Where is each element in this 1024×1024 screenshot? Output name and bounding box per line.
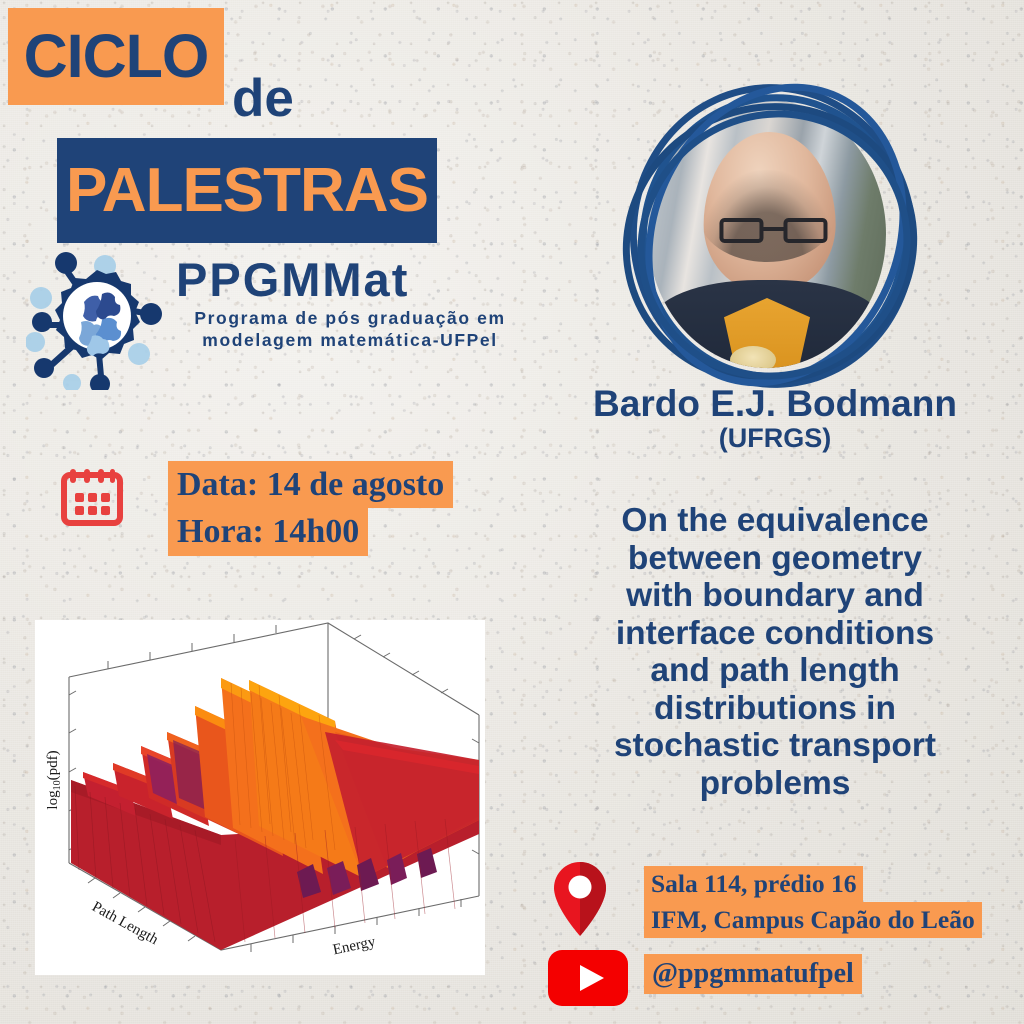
talk-title-line: On the equivalence <box>556 502 994 540</box>
schedule-time: Hora: 14h00 <box>168 508 368 555</box>
location-block: Sala 114, prédio 16 IFM, Campus Capão do… <box>644 866 982 938</box>
talk-title-line: interface conditions <box>556 615 994 653</box>
palestras-title-box: PALESTRAS <box>57 138 437 243</box>
poster-canvas: CICLO de PALESTRAS <box>0 0 1024 1024</box>
talk-title-line: with boundary and <box>556 577 994 615</box>
youtube-handle[interactable]: @ppgmmatufpel <box>644 954 862 994</box>
scribble-ring-5 <box>585 58 963 433</box>
calendar-icon <box>60 463 124 527</box>
location-line-2: IFM, Campus Capão do Leão <box>644 902 982 938</box>
location-line-1: Sala 114, prédio 16 <box>644 866 863 902</box>
ciclo-title-text: CICLO <box>24 26 209 87</box>
ppgmmat-logo: PPGMMat Programa de pós graduação em mod… <box>26 250 536 390</box>
talk-title-line: and path length <box>556 652 994 690</box>
schedule-date: Data: 14 de agosto <box>168 461 453 508</box>
gear-puzzle-logo-icon <box>26 250 168 390</box>
speaker-portrait <box>610 78 922 390</box>
palestras-title-text: PALESTRAS <box>66 160 428 222</box>
youtube-icon[interactable] <box>548 950 628 1006</box>
logo-subtitle-line2: modelagem matemática-UFPel <box>176 329 524 351</box>
speaker-name: Bardo E.J. Bodmann <box>540 384 1010 423</box>
surface-plot-panel: log10(pdf) Path Length Energy <box>35 620 485 975</box>
map-pin-icon <box>554 862 606 936</box>
logo-subtitle-line1: Programa de pós graduação em <box>176 307 524 329</box>
talk-title-line: problems <box>556 765 994 803</box>
speaker-affiliation: (UFRGS) <box>540 424 1010 454</box>
schedule-block: Data: 14 de agosto Hora: 14h00 <box>168 461 453 556</box>
logo-text-block: PPGMMat Programa de pós graduação em mod… <box>176 256 536 352</box>
talk-title: On the equivalence between geometry with… <box>556 502 994 802</box>
talk-title-line: between geometry <box>556 540 994 578</box>
ciclo-title-box: CICLO <box>8 8 224 105</box>
logo-title: PPGMMat <box>176 256 536 303</box>
plot-zlabel: log10(pdf) <box>45 750 63 809</box>
talk-title-line: distributions in <box>556 690 994 728</box>
surface-plot-svg: log10(pdf) Path Length Energy <box>35 620 485 975</box>
de-connector-text: de <box>232 72 294 125</box>
talk-title-line: stochastic transport <box>556 727 994 765</box>
